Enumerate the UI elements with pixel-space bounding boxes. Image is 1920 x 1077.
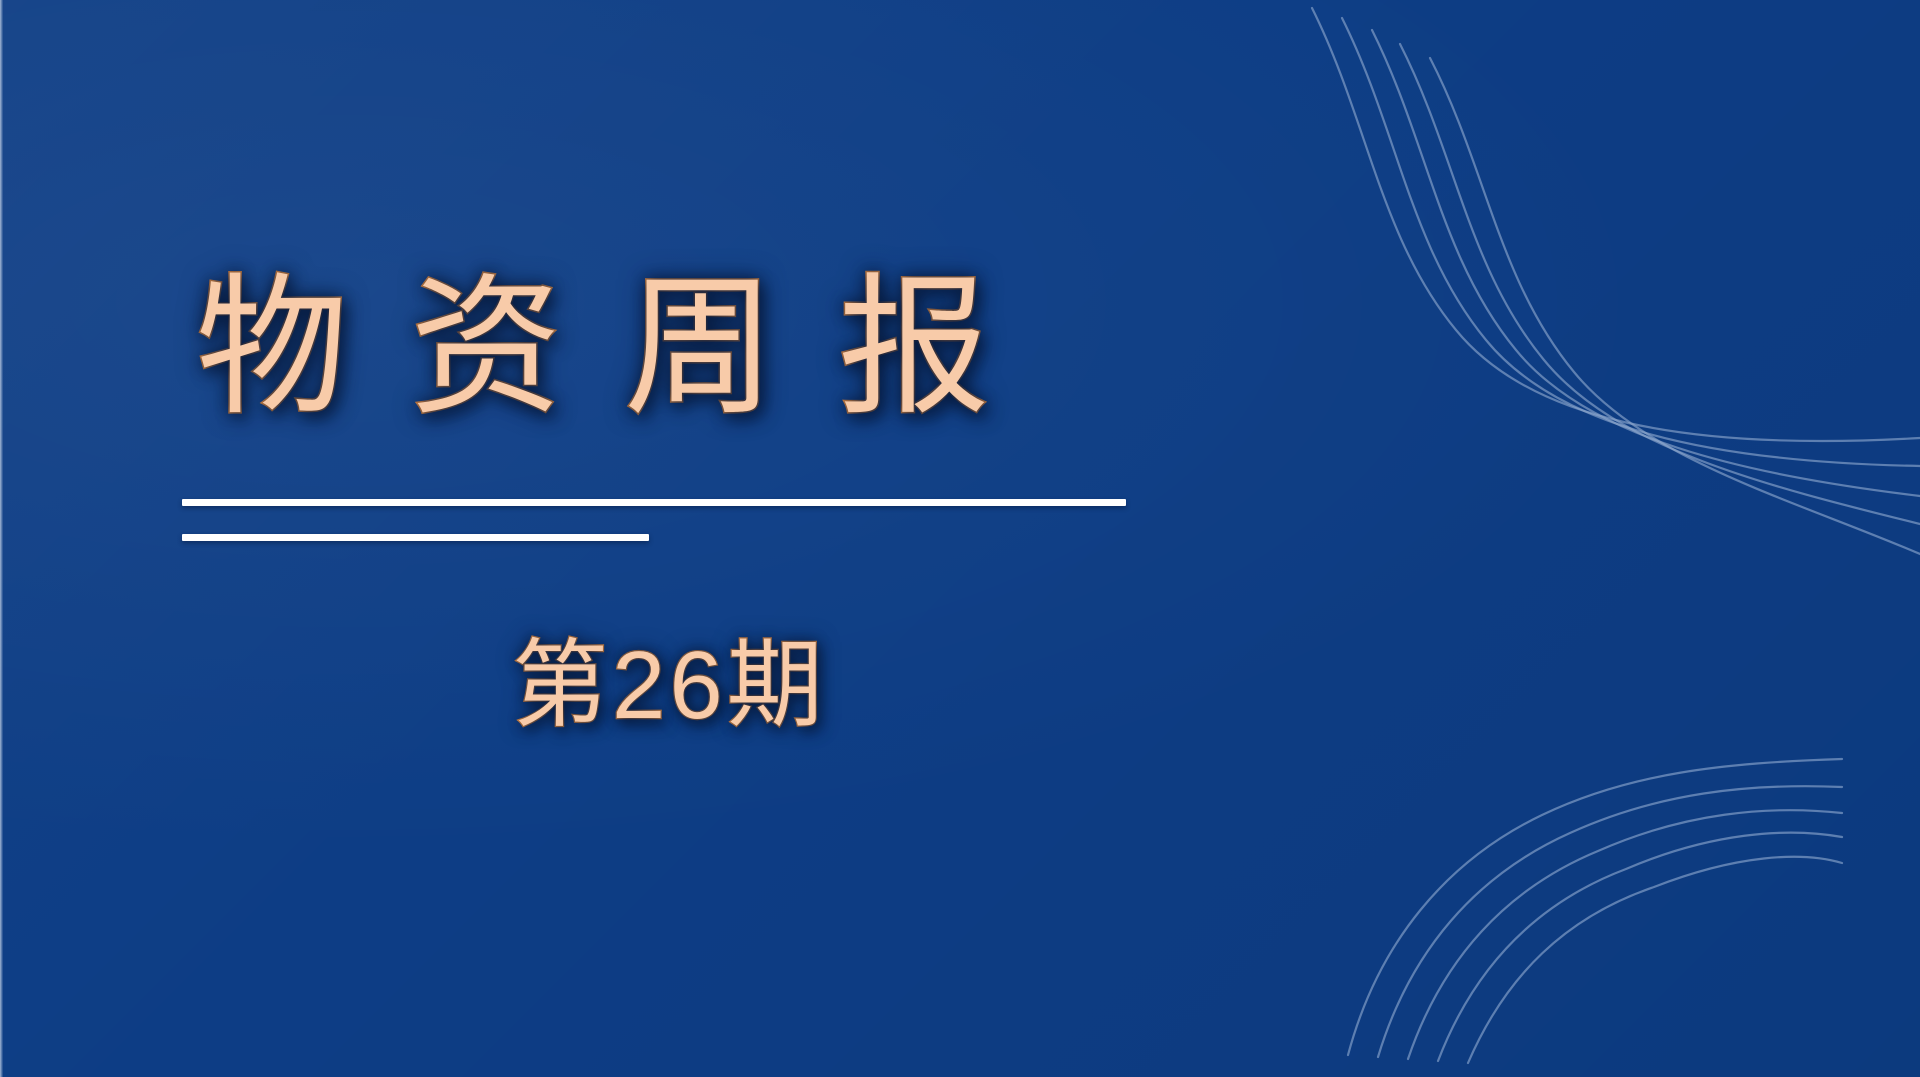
page-title: 物资周报	[196, 272, 1052, 424]
left-edge-sliver	[0, 0, 3, 1077]
title-slide: 物资周报 第26期	[0, 0, 1920, 1077]
title-underline-short	[182, 534, 649, 541]
slide-content: 物资周报 第26期	[0, 0, 1920, 1077]
title-underline-long	[182, 499, 1126, 506]
issue-subtitle: 第26期	[512, 638, 827, 734]
